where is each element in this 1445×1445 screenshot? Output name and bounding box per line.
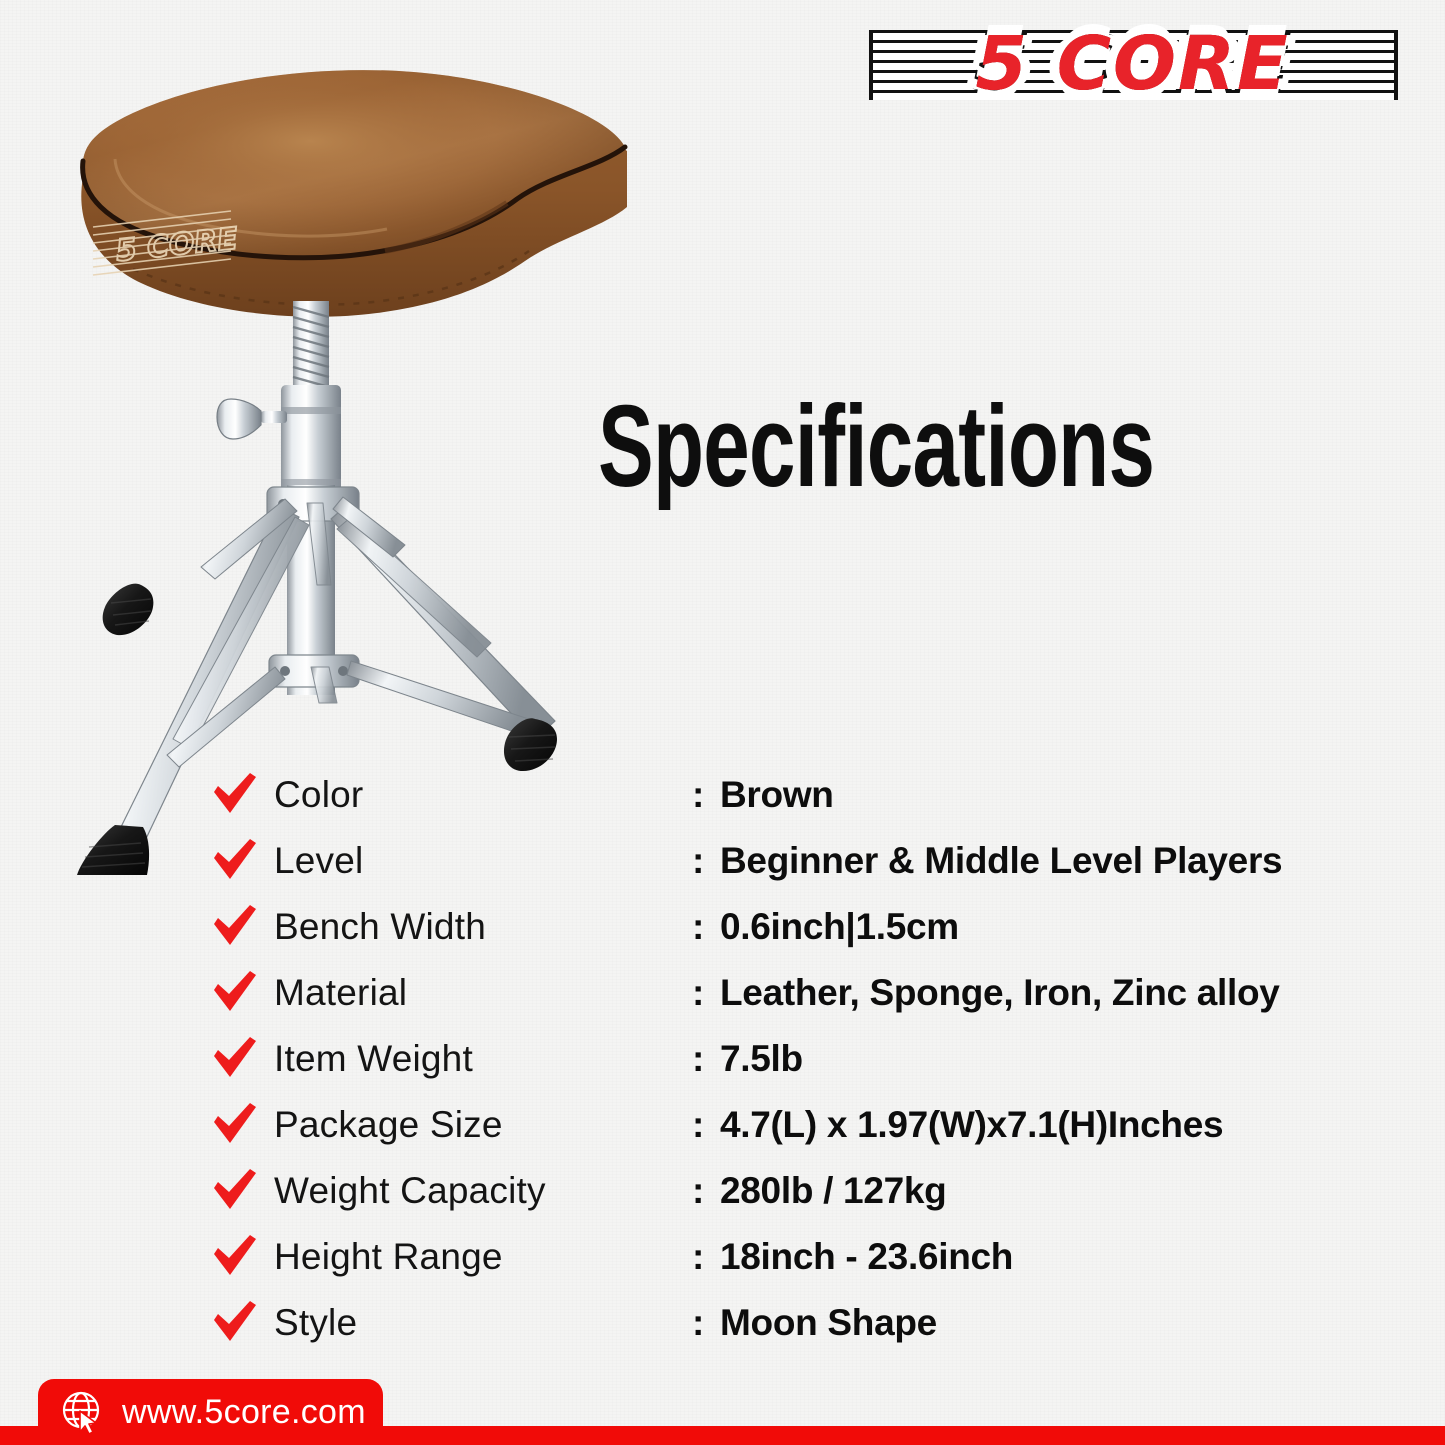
spec-label: Item Weight [274,1038,692,1080]
spec-row-bench-width: Bench Width : 0.6inch|1.5cm [212,894,1427,960]
check-icon [212,838,274,884]
spec-value: Leather, Sponge, Iron, Zinc alloy [720,972,1427,1014]
spec-value: Moon Shape [720,1302,1427,1344]
check-icon [212,772,274,818]
spec-label: Weight Capacity [274,1170,692,1212]
spec-label: Package Size [274,1104,692,1146]
spec-row-weight-capacity: Weight Capacity : 280lb / 127kg [212,1158,1427,1224]
spec-label: Level [274,840,692,882]
specifications-list: Color : Brown Level : Beginner & Middle … [212,762,1427,1356]
spec-separator: : [692,840,720,882]
spec-separator: : [692,972,720,1014]
spec-separator: : [692,1170,720,1212]
spec-row-level: Level : Beginner & Middle Level Players [212,828,1427,894]
spec-value: 7.5lb [720,1038,1427,1080]
spec-separator: : [692,1038,720,1080]
logo-text-fill: 5 CORE [855,12,1410,116]
spec-separator: : [692,1236,720,1278]
spec-separator: : [692,1302,720,1344]
spec-value: 0.6inch|1.5cm [720,906,1427,948]
spec-value: Brown [720,774,1427,816]
spec-row-package-size: Package Size : 4.7(L) x 1.97(W)x7.1(H)In… [212,1092,1427,1158]
check-icon [212,1036,274,1082]
spec-value: 18inch - 23.6inch [720,1236,1427,1278]
spec-value: 4.7(L) x 1.97(W)x7.1(H)Inches [720,1104,1427,1146]
spec-separator: : [692,906,720,948]
check-icon [212,1102,274,1148]
spec-separator: : [692,774,720,816]
spec-row-color: Color : Brown [212,762,1427,828]
spec-row-material: Material : Leather, Sponge, Iron, Zinc a… [212,960,1427,1026]
wing-bolt [217,399,287,439]
spec-label: Style [274,1302,692,1344]
spec-label: Height Range [274,1236,692,1278]
page-title: Specifications [598,386,1102,506]
spec-value: Beginner & Middle Level Players [720,840,1427,882]
infographic-page: 5 CORE [0,0,1445,1445]
brand-logo-5-core: 5 CORE 5 CORE [855,12,1410,116]
spec-row-height-range: Height Range : 18inch - 23.6inch [212,1224,1427,1290]
footer-url-text: www.5core.com [122,1393,366,1432]
check-icon [212,1300,274,1346]
spec-label: Bench Width [274,906,692,948]
spec-row-item-weight: Item Weight : 7.5lb [212,1026,1427,1092]
check-icon [212,1168,274,1214]
check-icon [212,970,274,1016]
height-adjust-collar [217,385,341,495]
globe-icon [60,1389,106,1435]
spec-separator: : [692,1104,720,1146]
spec-label: Material [274,972,692,1014]
spec-value: 280lb / 127kg [720,1170,1427,1212]
check-icon [212,904,274,950]
check-icon [212,1234,274,1280]
footer-website-tab[interactable]: www.5core.com [38,1379,383,1445]
product-image-drum-throne: 5 CORE [55,55,675,875]
spec-label: Color [274,774,692,816]
spec-row-style: Style : Moon Shape [212,1290,1427,1356]
seat-cushion: 5 CORE [81,70,627,317]
